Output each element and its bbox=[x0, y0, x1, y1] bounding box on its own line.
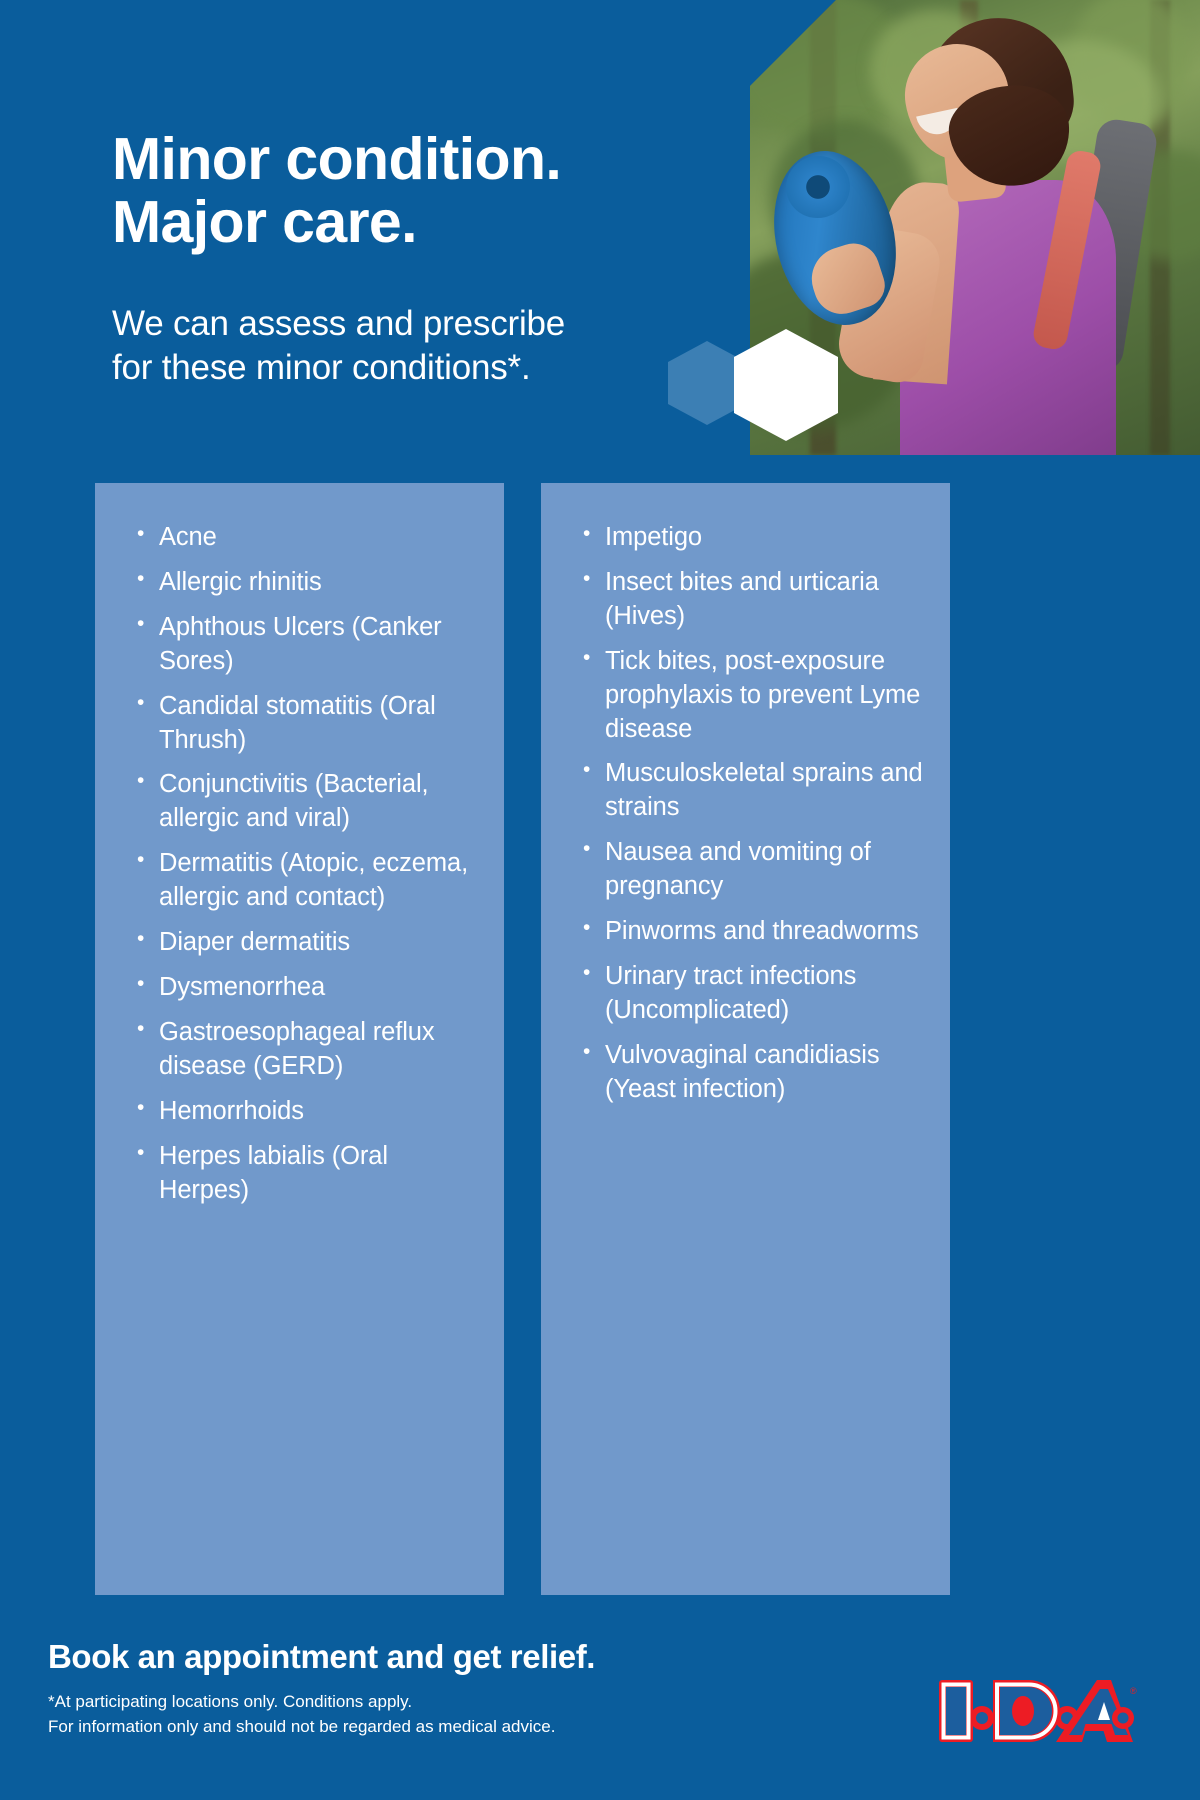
condition-list-item: Nausea and vomiting of pregnancy bbox=[583, 836, 924, 904]
condition-list-item: Impetigo bbox=[583, 521, 924, 555]
condition-list-item: Diaper dermatitis bbox=[137, 926, 478, 960]
fineprint-line-2: For information only and should not be r… bbox=[48, 1715, 748, 1740]
condition-list-item: Aphthous Ulcers (Canker Sores) bbox=[137, 611, 478, 679]
subheading-line-2: for these minor conditions*. bbox=[112, 346, 692, 390]
ida-logo: ® bbox=[937, 1678, 1137, 1744]
condition-list-item: Tick bites, post-exposure prophylaxis to… bbox=[583, 645, 924, 747]
poster-root: Minor condition. Major care. We can asse… bbox=[0, 0, 1200, 1800]
condition-list-item: Herpes labialis (Oral Herpes) bbox=[137, 1140, 478, 1208]
conditions-panel-left: AcneAllergic rhinitisAphthous Ulcers (Ca… bbox=[95, 483, 504, 1595]
condition-list-item: Vulvovaginal candidiasis (Yeast infectio… bbox=[583, 1039, 924, 1107]
condition-list-item: Pinworms and threadworms bbox=[583, 915, 924, 949]
condition-list-item: Dysmenorrhea bbox=[137, 971, 478, 1005]
conditions-panel-right: ImpetigoInsect bites and urticaria (Hive… bbox=[541, 483, 950, 1595]
condition-list-item: Urinary tract infections (Uncomplicated) bbox=[583, 960, 924, 1028]
fineprint-line-1: *At participating locations only. Condit… bbox=[48, 1690, 748, 1715]
cta-text: Book an appointment and get relief. bbox=[48, 1638, 595, 1676]
condition-list-item: Allergic rhinitis bbox=[137, 566, 478, 600]
conditions-list-left: AcneAllergic rhinitisAphthous Ulcers (Ca… bbox=[95, 483, 504, 1207]
condition-list-item: Dermatitis (Atopic, eczema, allergic and… bbox=[137, 847, 478, 915]
registered-mark: ® bbox=[1130, 1686, 1137, 1696]
condition-list-item: Candidal stomatitis (Oral Thrush) bbox=[137, 690, 478, 758]
fineprint: *At participating locations only. Condit… bbox=[48, 1690, 748, 1739]
condition-list-item: Hemorrhoids bbox=[137, 1095, 478, 1129]
subheading: We can assess and prescribe for these mi… bbox=[112, 302, 692, 390]
condition-list-item: Insect bites and urticaria (Hives) bbox=[583, 566, 924, 634]
page-title: Minor condition. Major care. bbox=[112, 128, 712, 253]
headline-line-2: Major care. bbox=[112, 191, 712, 254]
condition-list-item: Acne bbox=[137, 521, 478, 555]
condition-list-item: Conjunctivitis (Bacterial, allergic and … bbox=[137, 768, 478, 836]
headline-line-1: Minor condition. bbox=[112, 128, 712, 191]
subheading-line-1: We can assess and prescribe bbox=[112, 302, 692, 346]
conditions-list-right: ImpetigoInsect bites and urticaria (Hive… bbox=[541, 483, 950, 1107]
condition-list-item: Gastroesophageal reflux disease (GERD) bbox=[137, 1016, 478, 1084]
condition-list-item: Musculoskeletal sprains and strains bbox=[583, 757, 924, 825]
